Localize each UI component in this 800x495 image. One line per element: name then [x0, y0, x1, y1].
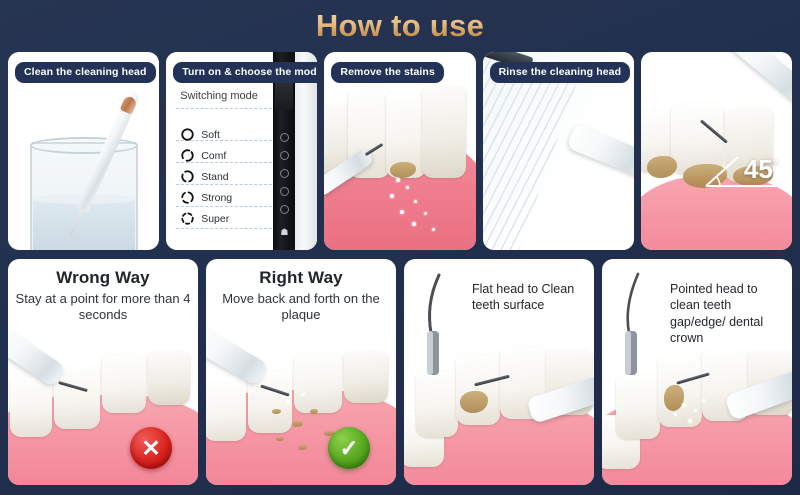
card-pointed-head[interactable]: Pointed head to clean teeth gap/edge/ de…: [602, 259, 792, 485]
tooth-icon: ☗: [273, 227, 295, 238]
mode-item-stand[interactable]: Stand: [180, 166, 232, 187]
particle: [674, 413, 677, 416]
card-choose-mode[interactable]: Turn on & choose the mode Switching mode…: [166, 52, 317, 250]
card-label-clean-head: Clean the cleaning head: [15, 62, 156, 83]
particle: [688, 419, 692, 423]
card-label-remove-stains: Remove the stains: [331, 62, 443, 83]
card-remove-stains[interactable]: Remove the stains: [324, 52, 475, 250]
heading-subtitle: Move back and forth on the plaque: [206, 291, 396, 324]
mode-label: Super: [201, 213, 229, 225]
mode-label: Comf: [201, 150, 226, 162]
handpiece: [206, 325, 269, 387]
heading-title: Right Way: [206, 268, 396, 288]
card-clean-head[interactable]: Clean the cleaning head: [8, 52, 159, 250]
device-mode-dot: [280, 133, 289, 142]
tooth: [102, 355, 146, 413]
tooth: [344, 351, 388, 403]
title-bar: How to use: [0, 0, 800, 52]
wrong-badge: ✕: [130, 427, 172, 469]
wrong-way-heading: Wrong Way Stay at a point for more than …: [8, 268, 198, 324]
tooth: [422, 86, 466, 178]
device-mode-dot: [280, 169, 289, 178]
tool-copper-band: [120, 95, 138, 115]
heading-title: Wrong Way: [8, 268, 198, 288]
tooth: [10, 377, 52, 437]
circle-dash-4-icon: [180, 190, 195, 205]
tooth: [456, 355, 500, 425]
right-way-heading: Right Way Move back and forth on the pla…: [206, 268, 396, 324]
angle-indicator: 45°: [744, 156, 778, 182]
mode-item-soft[interactable]: Soft: [180, 124, 232, 145]
mode-item-super[interactable]: Super: [180, 208, 232, 229]
circle-dash-2-icon: [180, 148, 195, 163]
mode-label: Soft: [201, 129, 220, 141]
particle: [682, 403, 686, 407]
flat-head-caption: Flat head to Clean teeth surface: [472, 281, 586, 314]
angle-lines-icon: [704, 155, 790, 189]
tooth: [206, 383, 246, 441]
right-badge: ✓: [328, 427, 370, 469]
card-wrong-way[interactable]: Wrong Way Stay at a point for more than …: [8, 259, 198, 485]
circle-dash-5-icon: [180, 211, 195, 226]
handpiece: [566, 123, 634, 179]
pointed-head-caption: Pointed head to clean teeth gap/edge/ de…: [670, 281, 784, 346]
circle-dash-3-icon: [180, 169, 195, 184]
card-angle-guide[interactable]: 45°: [641, 52, 792, 250]
usage-row: Wrong Way Stay at a point for more than …: [0, 259, 800, 485]
mode-label: Strong: [201, 192, 232, 204]
mode-item-strong[interactable]: Strong: [180, 187, 232, 208]
device-mode-indicators: [273, 124, 295, 214]
card-flat-head[interactable]: Flat head to Clean teeth surface: [404, 259, 594, 485]
pointed-scaler-tip-icon: [620, 271, 654, 381]
device-mode-dot: [280, 151, 289, 160]
particle: [702, 399, 705, 402]
device-mode-dot: [280, 187, 289, 196]
mode-item-comf[interactable]: Comf: [180, 145, 232, 166]
tooth: [616, 375, 660, 439]
particle: [694, 409, 697, 412]
circle-solid-ring-icon: [180, 127, 195, 142]
mode-label: Stand: [201, 171, 228, 183]
angle-illustration: 45°: [641, 52, 792, 250]
card-label-rinse-head: Rinse the cleaning head: [490, 62, 631, 83]
steps-row: Clean the cleaning head Turn on & choose…: [0, 52, 800, 250]
particle: [286, 399, 290, 403]
page-title: How to use: [316, 8, 484, 44]
divider: [176, 108, 272, 109]
card-right-way[interactable]: Right Way Move back and forth on the pla…: [206, 259, 396, 485]
heading-subtitle: Stay at a point for more than 4 seconds: [8, 291, 198, 324]
card-rinse-head[interactable]: Rinse the cleaning head: [483, 52, 634, 250]
flat-scaler-tip-icon: [422, 271, 456, 381]
tooth: [148, 351, 190, 405]
card-label-choose-mode: Turn on & choose the mode: [173, 62, 317, 83]
tartar-deposit: [647, 156, 677, 178]
switching-mode-title: Switching mode: [180, 90, 258, 102]
mode-list: Soft Comf Stand: [180, 124, 232, 229]
handpiece: [726, 52, 792, 106]
tooth: [294, 353, 342, 413]
particle: [302, 393, 305, 396]
device-mode-dot: [280, 205, 289, 214]
